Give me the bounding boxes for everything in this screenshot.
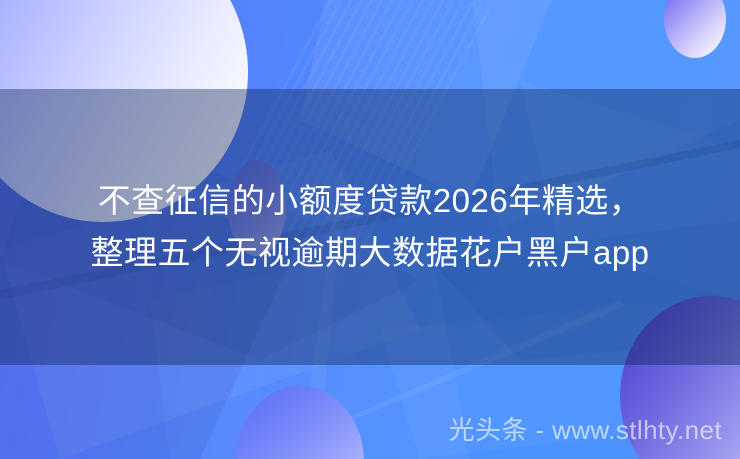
title-block: 不查征信的小额度贷款2026年精选， 整理五个无视逾期大数据花户黑户app — [0, 89, 740, 365]
title-line-2: 整理五个无视逾期大数据花户黑户app — [90, 227, 649, 279]
site-watermark: 光头条 - www.stlhty.net — [449, 415, 722, 445]
title-line-1: 不查征信的小额度贷款2026年精选， — [98, 175, 642, 227]
article-cover-card: 不查征信的小额度贷款2026年精选， 整理五个无视逾期大数据花户黑户app 光头… — [0, 0, 740, 459]
